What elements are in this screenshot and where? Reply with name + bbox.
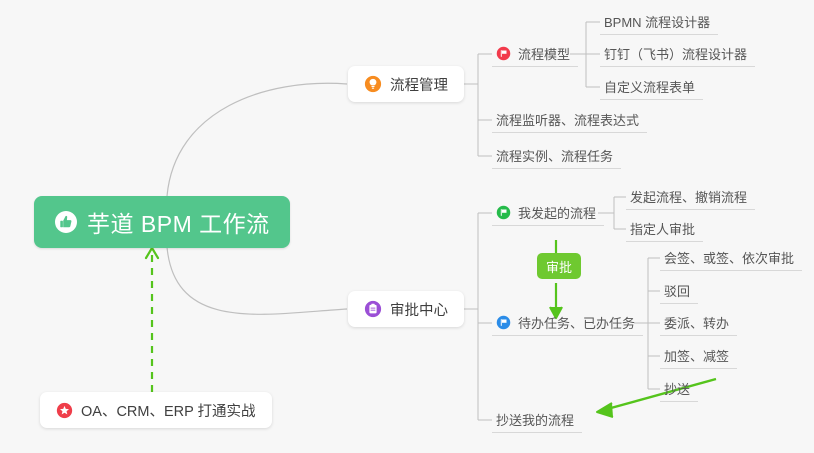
node-add-remove-sign[interactable]: 加签、减签 [660, 343, 737, 369]
node-add-remove-sign-label: 加签、减签 [664, 346, 729, 365]
node-my-started-process-label: 我发起的流程 [518, 203, 596, 222]
arrow-cc-to-ccme [600, 379, 716, 411]
link-root-to-process-management [167, 83, 347, 196]
node-reject[interactable]: 驳回 [660, 278, 698, 304]
node-assignee-approval-label: 指定人审批 [630, 219, 695, 238]
approval-tag-label: 审批 [546, 257, 572, 276]
node-reject-label: 驳回 [664, 281, 690, 300]
approval-tag-node[interactable]: 审批 [537, 253, 581, 279]
node-bpmn-designer[interactable]: BPMN 流程设计器 [600, 9, 718, 35]
green-flag-icon [496, 205, 511, 220]
arrow-cc-head [597, 403, 613, 417]
node-cc-to-me-process-label: 抄送我的流程 [496, 410, 574, 429]
node-process-listener-expression-label: 流程监听器、流程表达式 [496, 110, 639, 129]
root-node-label: 芋道 BPM 工作流 [87, 205, 270, 239]
node-process-model[interactable]: 流程模型 [492, 41, 578, 67]
footnote-node[interactable]: OA、CRM、ERP 打通实战 [40, 392, 272, 428]
node-custom-process-form-label: 自定义流程表单 [604, 77, 695, 96]
node-dingtalk-feishu-designer-label: 钉钉（飞书）流程设计器 [604, 44, 747, 63]
node-delegate-transfer-label: 委派、转办 [664, 313, 729, 332]
node-todo-done-task-label: 待办任务、已办任务 [518, 313, 635, 332]
node-start-cancel-process[interactable]: 发起流程、撤销流程 [626, 184, 755, 210]
node-assignee-approval[interactable]: 指定人审批 [626, 216, 703, 242]
node-cc-label: 抄送 [664, 379, 690, 398]
node-countersign-label: 会签、或签、依次审批 [664, 248, 794, 267]
node-dingtalk-feishu-designer[interactable]: 钉钉（飞书）流程设计器 [600, 41, 755, 67]
node-delegate-transfer[interactable]: 委派、转办 [660, 310, 737, 336]
arrow-footnote-head [146, 248, 158, 258]
star-icon [56, 402, 73, 419]
node-todo-done-task[interactable]: 待办任务、已办任务 [492, 310, 643, 336]
branch-approval-center-label: 审批中心 [390, 299, 448, 320]
branch-process-management-label: 流程管理 [390, 74, 448, 95]
node-process-listener-expression[interactable]: 流程监听器、流程表达式 [492, 107, 647, 133]
node-my-started-process[interactable]: 我发起的流程 [492, 200, 604, 226]
lightbulb-icon [364, 75, 382, 93]
node-start-cancel-process-label: 发起流程、撤销流程 [630, 187, 747, 206]
node-process-model-label: 流程模型 [518, 44, 570, 63]
clipboard-icon [364, 300, 382, 318]
node-process-instance-task[interactable]: 流程实例、流程任务 [492, 143, 621, 169]
node-countersign[interactable]: 会签、或签、依次审批 [660, 245, 802, 271]
node-bpmn-designer-label: BPMN 流程设计器 [604, 12, 710, 31]
blue-flag-icon [496, 315, 511, 330]
red-flag-icon [496, 46, 511, 61]
mindmap-canvas: 芋道 BPM 工作流 OA、CRM、ERP 打通实战 流程管理 [0, 0, 814, 453]
footnote-label: OA、CRM、ERP 打通实战 [81, 400, 256, 421]
node-cc-to-me-process[interactable]: 抄送我的流程 [492, 407, 582, 433]
node-process-instance-task-label: 流程实例、流程任务 [496, 146, 613, 165]
branch-process-management[interactable]: 流程管理 [348, 66, 464, 102]
link-root-to-approval-center [167, 247, 347, 314]
branch-approval-center[interactable]: 审批中心 [348, 291, 464, 327]
node-cc[interactable]: 抄送 [660, 376, 698, 402]
thumbs-up-icon [54, 210, 78, 234]
root-node[interactable]: 芋道 BPM 工作流 [34, 196, 290, 248]
node-custom-process-form[interactable]: 自定义流程表单 [600, 74, 703, 100]
